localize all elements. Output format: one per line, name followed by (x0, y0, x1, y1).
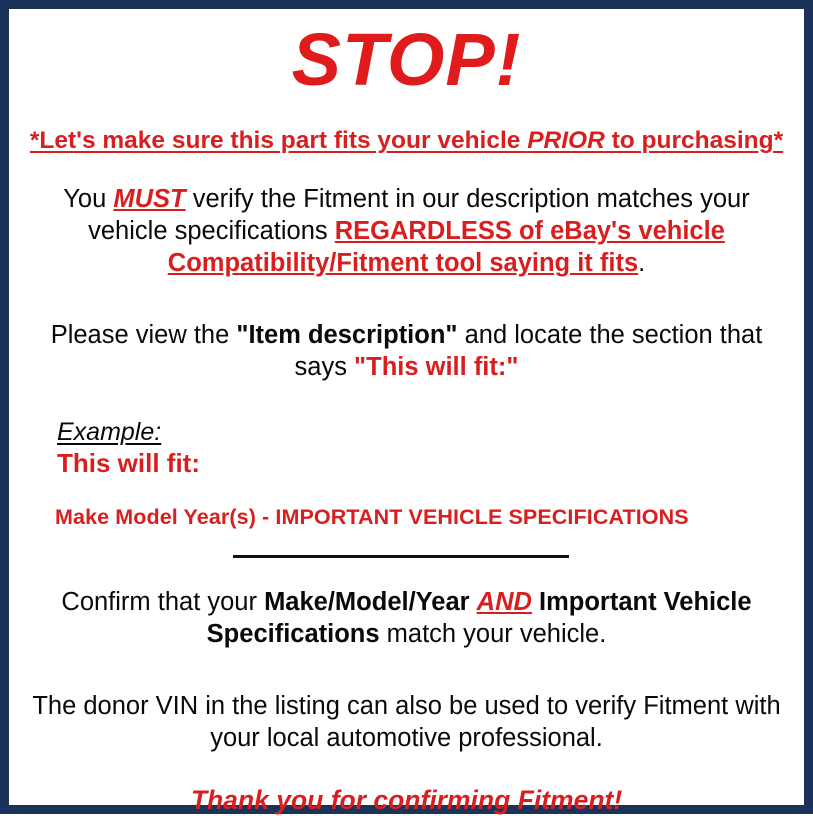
view-segment-1: Please view the (51, 321, 237, 349)
thank-you-message: Thank you for confirming Fitment! (23, 785, 790, 816)
example-block: Example: This will fit: Make Model Year(… (23, 418, 790, 530)
page-title: STOP! (23, 23, 790, 97)
paragraph-view-description: Please view the "Item description" and l… (23, 320, 790, 384)
confirm-segment-1: Confirm that your (61, 588, 264, 616)
example-spec-line: Make Model Year(s) - IMPORTANT VEHICLE S… (55, 505, 790, 530)
emphasis-this-will-fit: "This will fit:" (354, 353, 518, 381)
confirm-segment-3 (532, 588, 539, 616)
emphasis-make-model-year: Make/Model/Year (264, 588, 470, 616)
divider-wrap (23, 555, 790, 558)
example-label: Example: (57, 418, 161, 447)
subtitle-emphasis-prior: PRIOR (527, 127, 605, 154)
paragraph-donor-vin: The donor VIN in the listing can also be… (23, 691, 790, 755)
fitment-notice-card: STOP! *Let's make sure this part fits yo… (0, 0, 813, 814)
section-divider (233, 555, 569, 558)
example-fit-heading: This will fit: (57, 449, 790, 479)
emphasis-item-description: "Item description" (236, 321, 457, 349)
example-label-row: Example: (57, 418, 790, 447)
must-segment-1: You (63, 185, 113, 213)
paragraph-confirm: Confirm that your Make/Model/Year AND Im… (23, 587, 790, 651)
subtitle-banner: *Let's make sure this part fits your veh… (23, 127, 790, 154)
emphasis-and: AND (477, 588, 532, 616)
paragraph-must-verify: You MUST verify the Fitment in our descr… (23, 184, 790, 280)
must-segment-3: . (638, 249, 645, 277)
subtitle-text-before: *Let's make sure this part fits your veh… (30, 127, 527, 154)
subtitle-text-after: to purchasing* (605, 127, 783, 154)
confirm-segment-2 (470, 588, 477, 616)
emphasis-must: MUST (113, 185, 185, 213)
confirm-segment-4: match your vehicle. (380, 620, 607, 648)
